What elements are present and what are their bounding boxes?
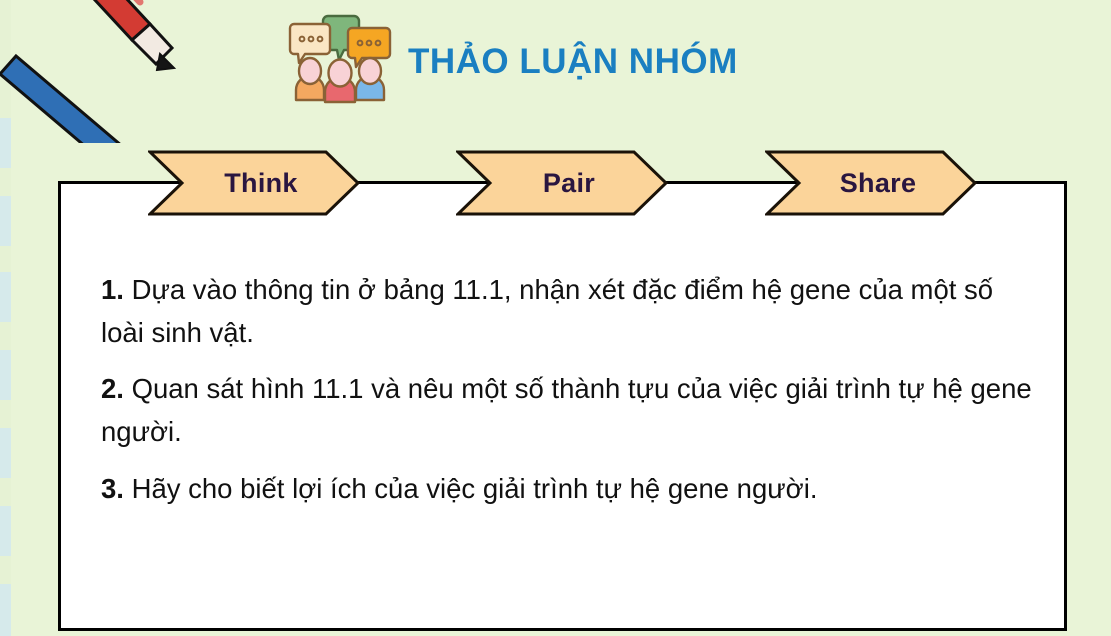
- person-center-icon: [325, 60, 355, 103]
- step-think-label: Think: [148, 150, 360, 216]
- question-text: Hãy cho biết lợi ích của việc giải trình…: [132, 473, 818, 504]
- header: THẢO LUẬN NHÓM: [288, 12, 738, 104]
- think-pair-share-banner: Think Pair Share: [0, 150, 1111, 220]
- person-right-icon: [356, 58, 384, 100]
- striped-edge-strip: [0, 0, 11, 636]
- step-share[interactable]: Share: [765, 150, 977, 216]
- list-item: 3. Hãy cho biết lợi ích của việc giải tr…: [101, 468, 1036, 511]
- list-item: 1. Dựa vào thông tin ở bảng 11.1, nhận x…: [101, 269, 1036, 354]
- pencils-illustration: [0, 0, 184, 143]
- page-title: THẢO LUẬN NHÓM: [408, 38, 738, 79]
- question-text: Quan sát hình 11.1 và nêu một số thành t…: [101, 373, 1032, 447]
- list-item: 2. Quan sát hình 11.1 và nêu một số thàn…: [101, 368, 1036, 453]
- question-number: 3.: [101, 473, 124, 504]
- question-number: 1.: [101, 274, 124, 305]
- person-left-icon: [296, 58, 324, 100]
- question-text: Dựa vào thông tin ở bảng 11.1, nhận xét …: [101, 274, 993, 348]
- content-box: 1. Dựa vào thông tin ở bảng 11.1, nhận x…: [58, 181, 1067, 631]
- step-think[interactable]: Think: [148, 150, 360, 216]
- group-discussion-icon: [288, 12, 392, 104]
- step-share-label: Share: [765, 150, 977, 216]
- step-pair-label: Pair: [456, 150, 668, 216]
- question-number: 2.: [101, 373, 124, 404]
- question-list: 1. Dựa vào thông tin ở bảng 11.1, nhận x…: [101, 269, 1036, 524]
- step-pair[interactable]: Pair: [456, 150, 668, 216]
